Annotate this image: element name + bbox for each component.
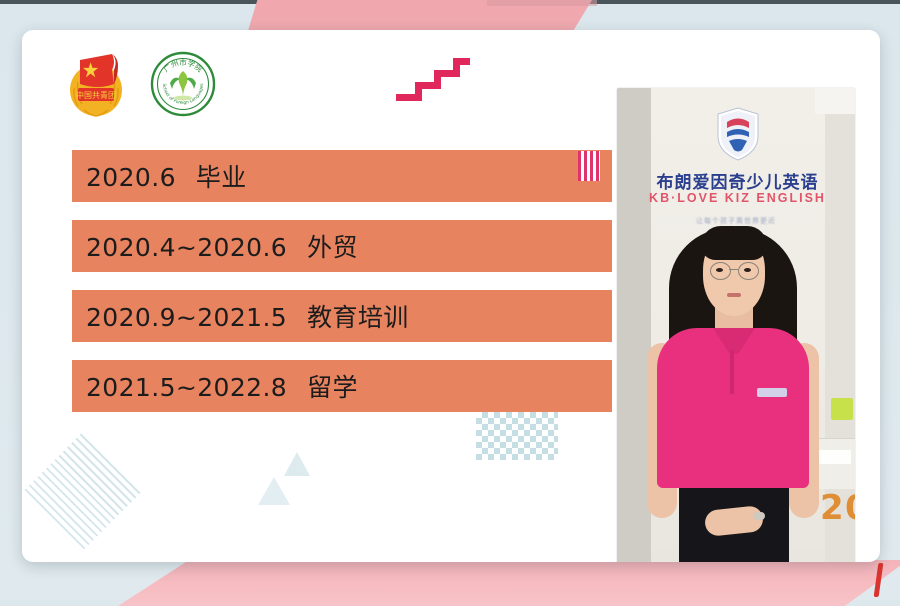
timeline-label: 教育培训 <box>307 303 409 332</box>
wall-papers <box>815 88 855 114</box>
timeline-period: 2021.5~2022.8 <box>86 373 287 402</box>
wall-sign-brand-en: KB·LOVE KIZ ENGLISH <box>635 191 840 205</box>
wall-sign-subtext: 让每个孩子离世界更近 <box>641 216 831 226</box>
triangle-upper <box>284 452 310 476</box>
triangle-lower <box>258 477 290 505</box>
desk-paper <box>817 450 851 464</box>
logo-row: 中国共青团 中国共青团 广州市学院 School of Foreign Lang… <box>64 48 216 125</box>
timeline-row: 2020.9~2021.5教育培训 <box>72 290 612 342</box>
stair-zigzag-icon <box>394 55 472 107</box>
svg-text:中国共青团: 中国共青团 <box>76 90 116 100</box>
timeline-row-text: 2020.6毕业 <box>72 158 247 194</box>
glasses-bridge <box>729 269 738 270</box>
timeline-period: 2020.9~2021.5 <box>86 303 287 332</box>
timeline-row-text: 2021.5~2022.8留学 <box>72 368 358 404</box>
timeline-row: 2020.4~2020.6外贸 <box>72 220 612 272</box>
wall-numeral-0: 0 <box>845 488 855 528</box>
communist-youth-league-emblem: 中国共青团 中国共青团 <box>64 48 128 125</box>
timeline-label: 留学 <box>307 373 358 402</box>
timeline-row: 2020.6毕业 <box>72 150 612 202</box>
timeline-row-text: 2020.9~2021.5教育培训 <box>72 298 409 334</box>
presenter-bracelet <box>753 512 765 520</box>
timeline-label: 外贸 <box>307 233 358 262</box>
shirt-logo <box>757 388 787 397</box>
shield-logo-icon <box>715 106 761 162</box>
presenter-video-feed[interactable]: 布朗爱因奇少儿英语 KB·LOVE KIZ ENGLISH 让每个孩子离世界更近… <box>617 88 855 562</box>
timeline-period: 2020.4~2020.6 <box>86 233 287 262</box>
timeline-label: 毕业 <box>196 163 247 192</box>
presenter-bangs <box>701 226 767 260</box>
glasses-lens-left <box>710 262 731 280</box>
timeline-bar-list: 2020.6毕业 2020.4~2020.6外贸 2020.9~2021.5教育… <box>72 150 612 430</box>
pink-top-band-shadow <box>487 0 597 6</box>
pink-vertical-stripes <box>578 151 600 181</box>
presentation-slide: 中国共青团 中国共青团 广州市学院 School of Foreign Lang… <box>22 30 880 562</box>
glasses-lens-right <box>738 262 759 280</box>
timeline-period: 2020.6 <box>86 163 176 192</box>
wall-sign-brand-cn: 布朗爱因奇少儿英语 <box>635 168 840 193</box>
timeline-row-text: 2020.4~2020.6外贸 <box>72 228 358 264</box>
striped-diamond <box>25 431 144 550</box>
wall-green-note <box>831 398 853 420</box>
timeline-row: 2021.5~2022.8留学 <box>72 360 612 412</box>
presenter-mouth <box>727 293 741 297</box>
pink-bottom-band <box>118 560 900 606</box>
school-of-foreign-languages-seal: 广州市学院 School of Foreign Languages 广州市学院 … <box>150 51 216 122</box>
video-wall-left-panel <box>617 88 651 562</box>
wall-numeral-2: 2 <box>820 488 844 528</box>
presenter-placket <box>730 350 734 394</box>
